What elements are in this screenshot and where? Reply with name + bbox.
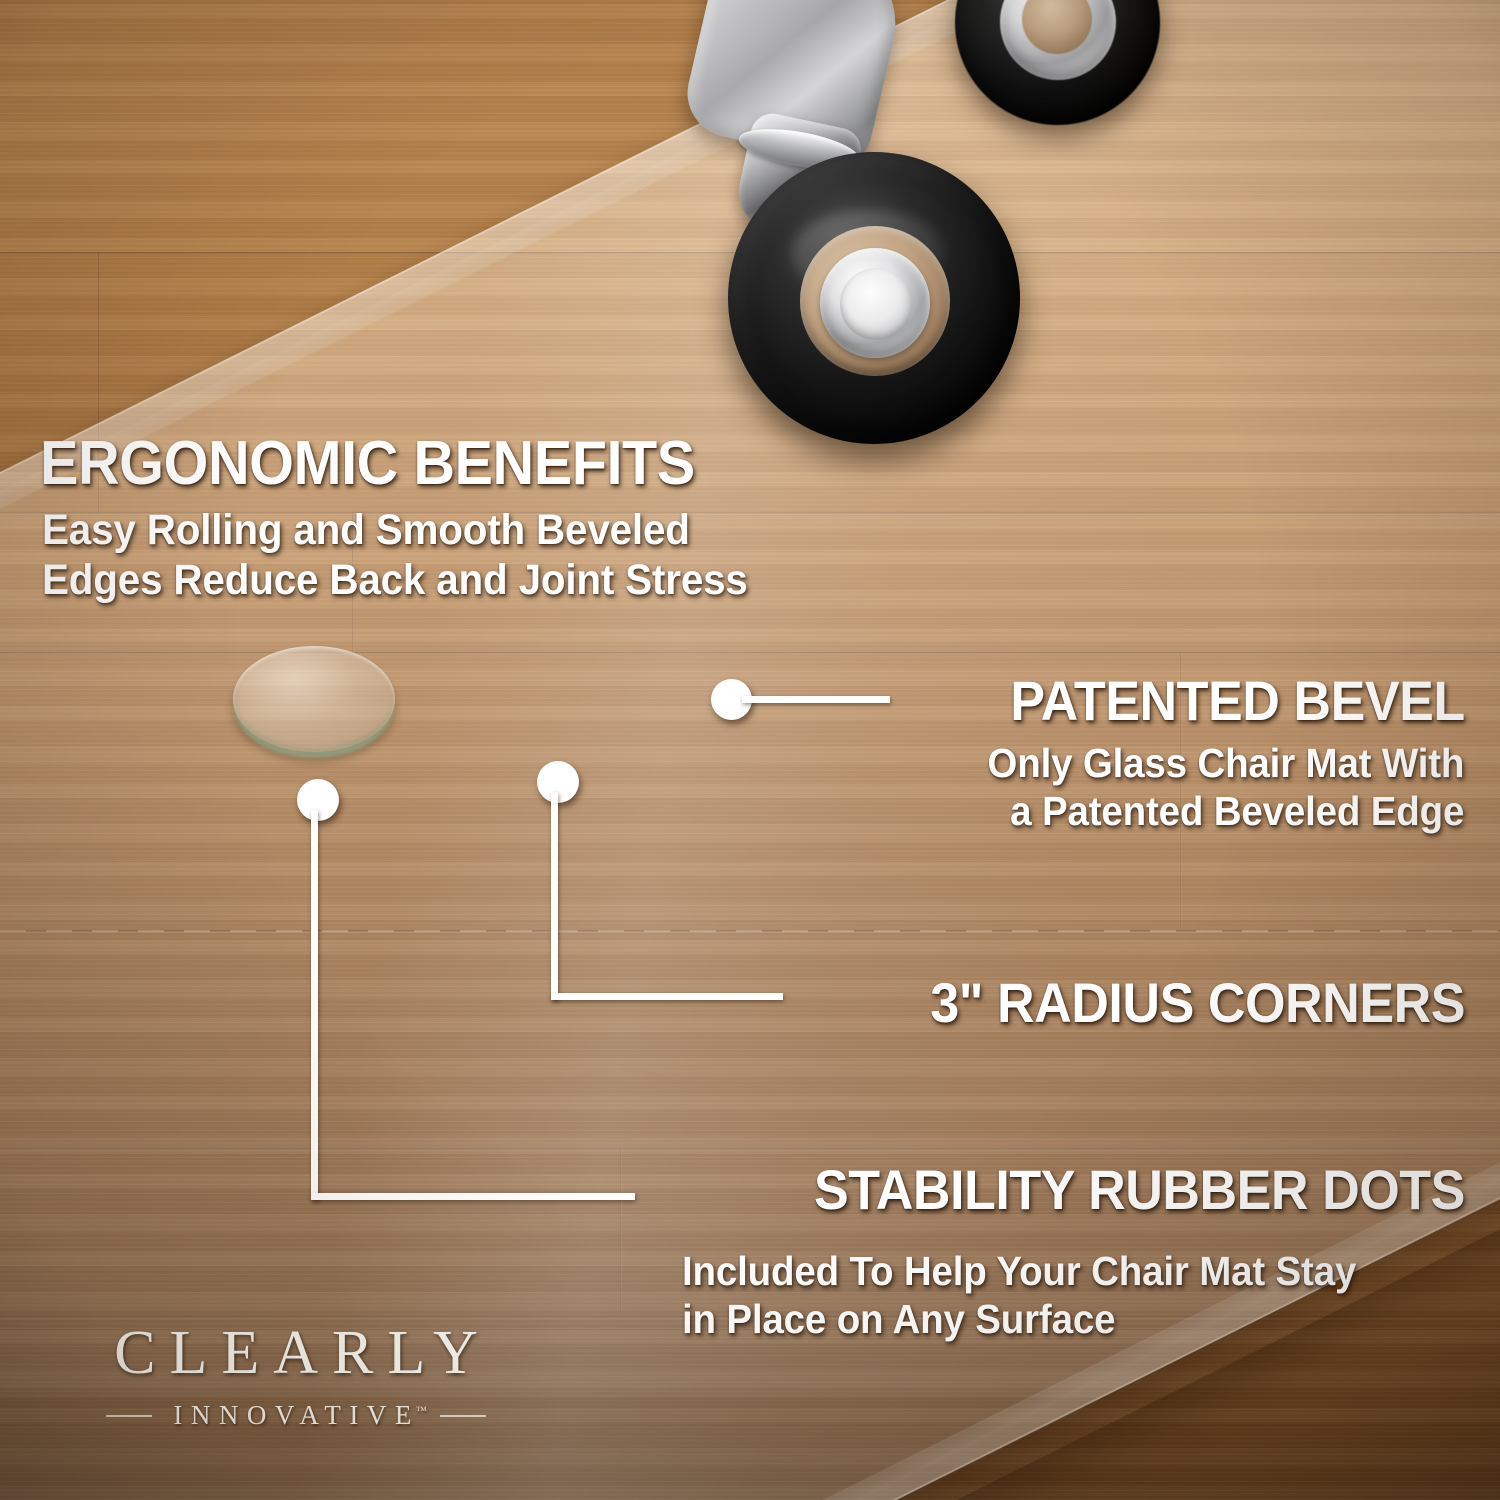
rubber-dot: [233, 646, 395, 752]
feature-title-ergonomic-benefits: ERGONOMIC BENEFITS: [40, 433, 695, 495]
brand-tagline-text: INNOVATIVE: [173, 1400, 420, 1430]
feature-title-stability-rubber-dots: STABILITY RUBBER DOTS: [814, 1162, 1465, 1218]
leader-line-radius-corners-vertical: [551, 792, 558, 1000]
brand-tagline: INNOVATIVE™: [165, 1400, 426, 1431]
feature-title-radius-corners: 3" RADIUS CORNERS: [930, 975, 1465, 1031]
caster-hub-center: [840, 268, 912, 340]
feature-subtitle-ergonomic-benefits: Easy Rolling and Smooth BeveledEdges Red…: [42, 505, 748, 606]
leader-line-patented-bevel: [742, 696, 890, 703]
logo-rule-right: [440, 1415, 486, 1417]
leader-line-radius-corners-horizontal: [551, 993, 783, 1000]
trademark-icon: ™: [416, 1405, 427, 1417]
leader-line-rubber-dots-vertical: [311, 810, 318, 1200]
feature-subtitle-stability-rubber-dots: Included To Help Your Chair Mat Stayin P…: [682, 1248, 1425, 1344]
logo-rule-left: [106, 1415, 152, 1417]
product-feature-image: ERGONOMIC BENEFITS Easy Rolling and Smoo…: [0, 0, 1500, 1500]
feature-title-patented-bevel: PATENTED BEVEL: [1010, 673, 1465, 729]
brand-name: CLEARLY: [86, 1322, 506, 1384]
feature-subtitle-patented-bevel: Only Glass Chair Mat Witha Patented Beve…: [987, 740, 1464, 836]
leader-dot-rubber-dots: [297, 779, 339, 821]
brand-logo: CLEARLY INNOVATIVE™: [86, 1322, 506, 1431]
leader-dot-radius-corners: [537, 761, 579, 803]
leader-line-rubber-dots-horizontal: [311, 1193, 635, 1200]
brand-tagline-row: INNOVATIVE™: [86, 1400, 506, 1431]
